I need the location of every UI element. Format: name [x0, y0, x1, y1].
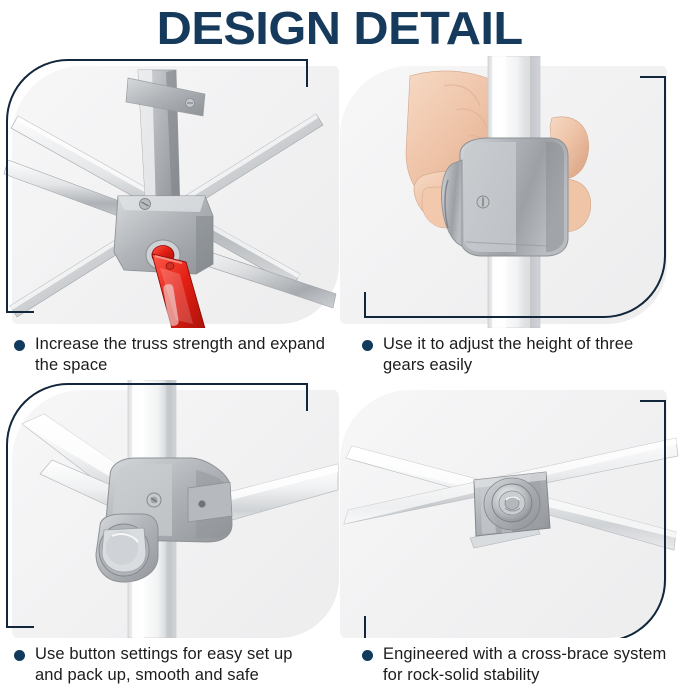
- panel-height-collar-photo: [340, 56, 679, 328]
- panel-cross-brace-caption: Engineered with a cross-brace system for…: [340, 644, 679, 686]
- panel-button-joint-caption: Use button settings for easy set up and …: [0, 644, 339, 686]
- bullet-icon: [14, 340, 25, 351]
- page-title-bar: DESIGN DETAIL: [0, 0, 679, 56]
- caption-text: Use it to adjust the height of three gea…: [383, 334, 673, 376]
- button-joint-illustration: [0, 380, 339, 638]
- design-detail-infographic: DESIGN DETAIL: [0, 0, 679, 697]
- panel-grid: Increase the truss strength and expand t…: [0, 56, 679, 697]
- panel-height-collar: Use it to adjust the height of three gea…: [340, 56, 679, 376]
- panel-height-collar-caption: Use it to adjust the height of three gea…: [340, 334, 679, 376]
- panel-truss-hub: Increase the truss strength and expand t…: [0, 56, 339, 376]
- bullet-icon: [14, 650, 25, 661]
- panel-cross-brace: Engineered with a cross-brace system for…: [340, 380, 679, 697]
- panel-button-joint: Use button settings for easy set up and …: [0, 380, 339, 697]
- cross-brace-illustration: [340, 380, 679, 638]
- bullet-icon: [362, 650, 373, 661]
- page-title: DESIGN DETAIL: [156, 5, 522, 51]
- truss-hub-illustration: [0, 56, 339, 328]
- panel-button-joint-photo: [0, 380, 339, 638]
- caption-text: Increase the truss strength and expand t…: [35, 334, 325, 376]
- height-collar-illustration: [340, 56, 679, 328]
- caption-text: Engineered with a cross-brace system for…: [383, 644, 673, 686]
- panel-cross-brace-photo: [340, 380, 679, 638]
- bullet-icon: [362, 340, 373, 351]
- panel-truss-hub-caption: Increase the truss strength and expand t…: [0, 334, 339, 376]
- panel-truss-hub-photo: [0, 56, 339, 328]
- caption-text: Use button settings for easy set up and …: [35, 644, 325, 686]
